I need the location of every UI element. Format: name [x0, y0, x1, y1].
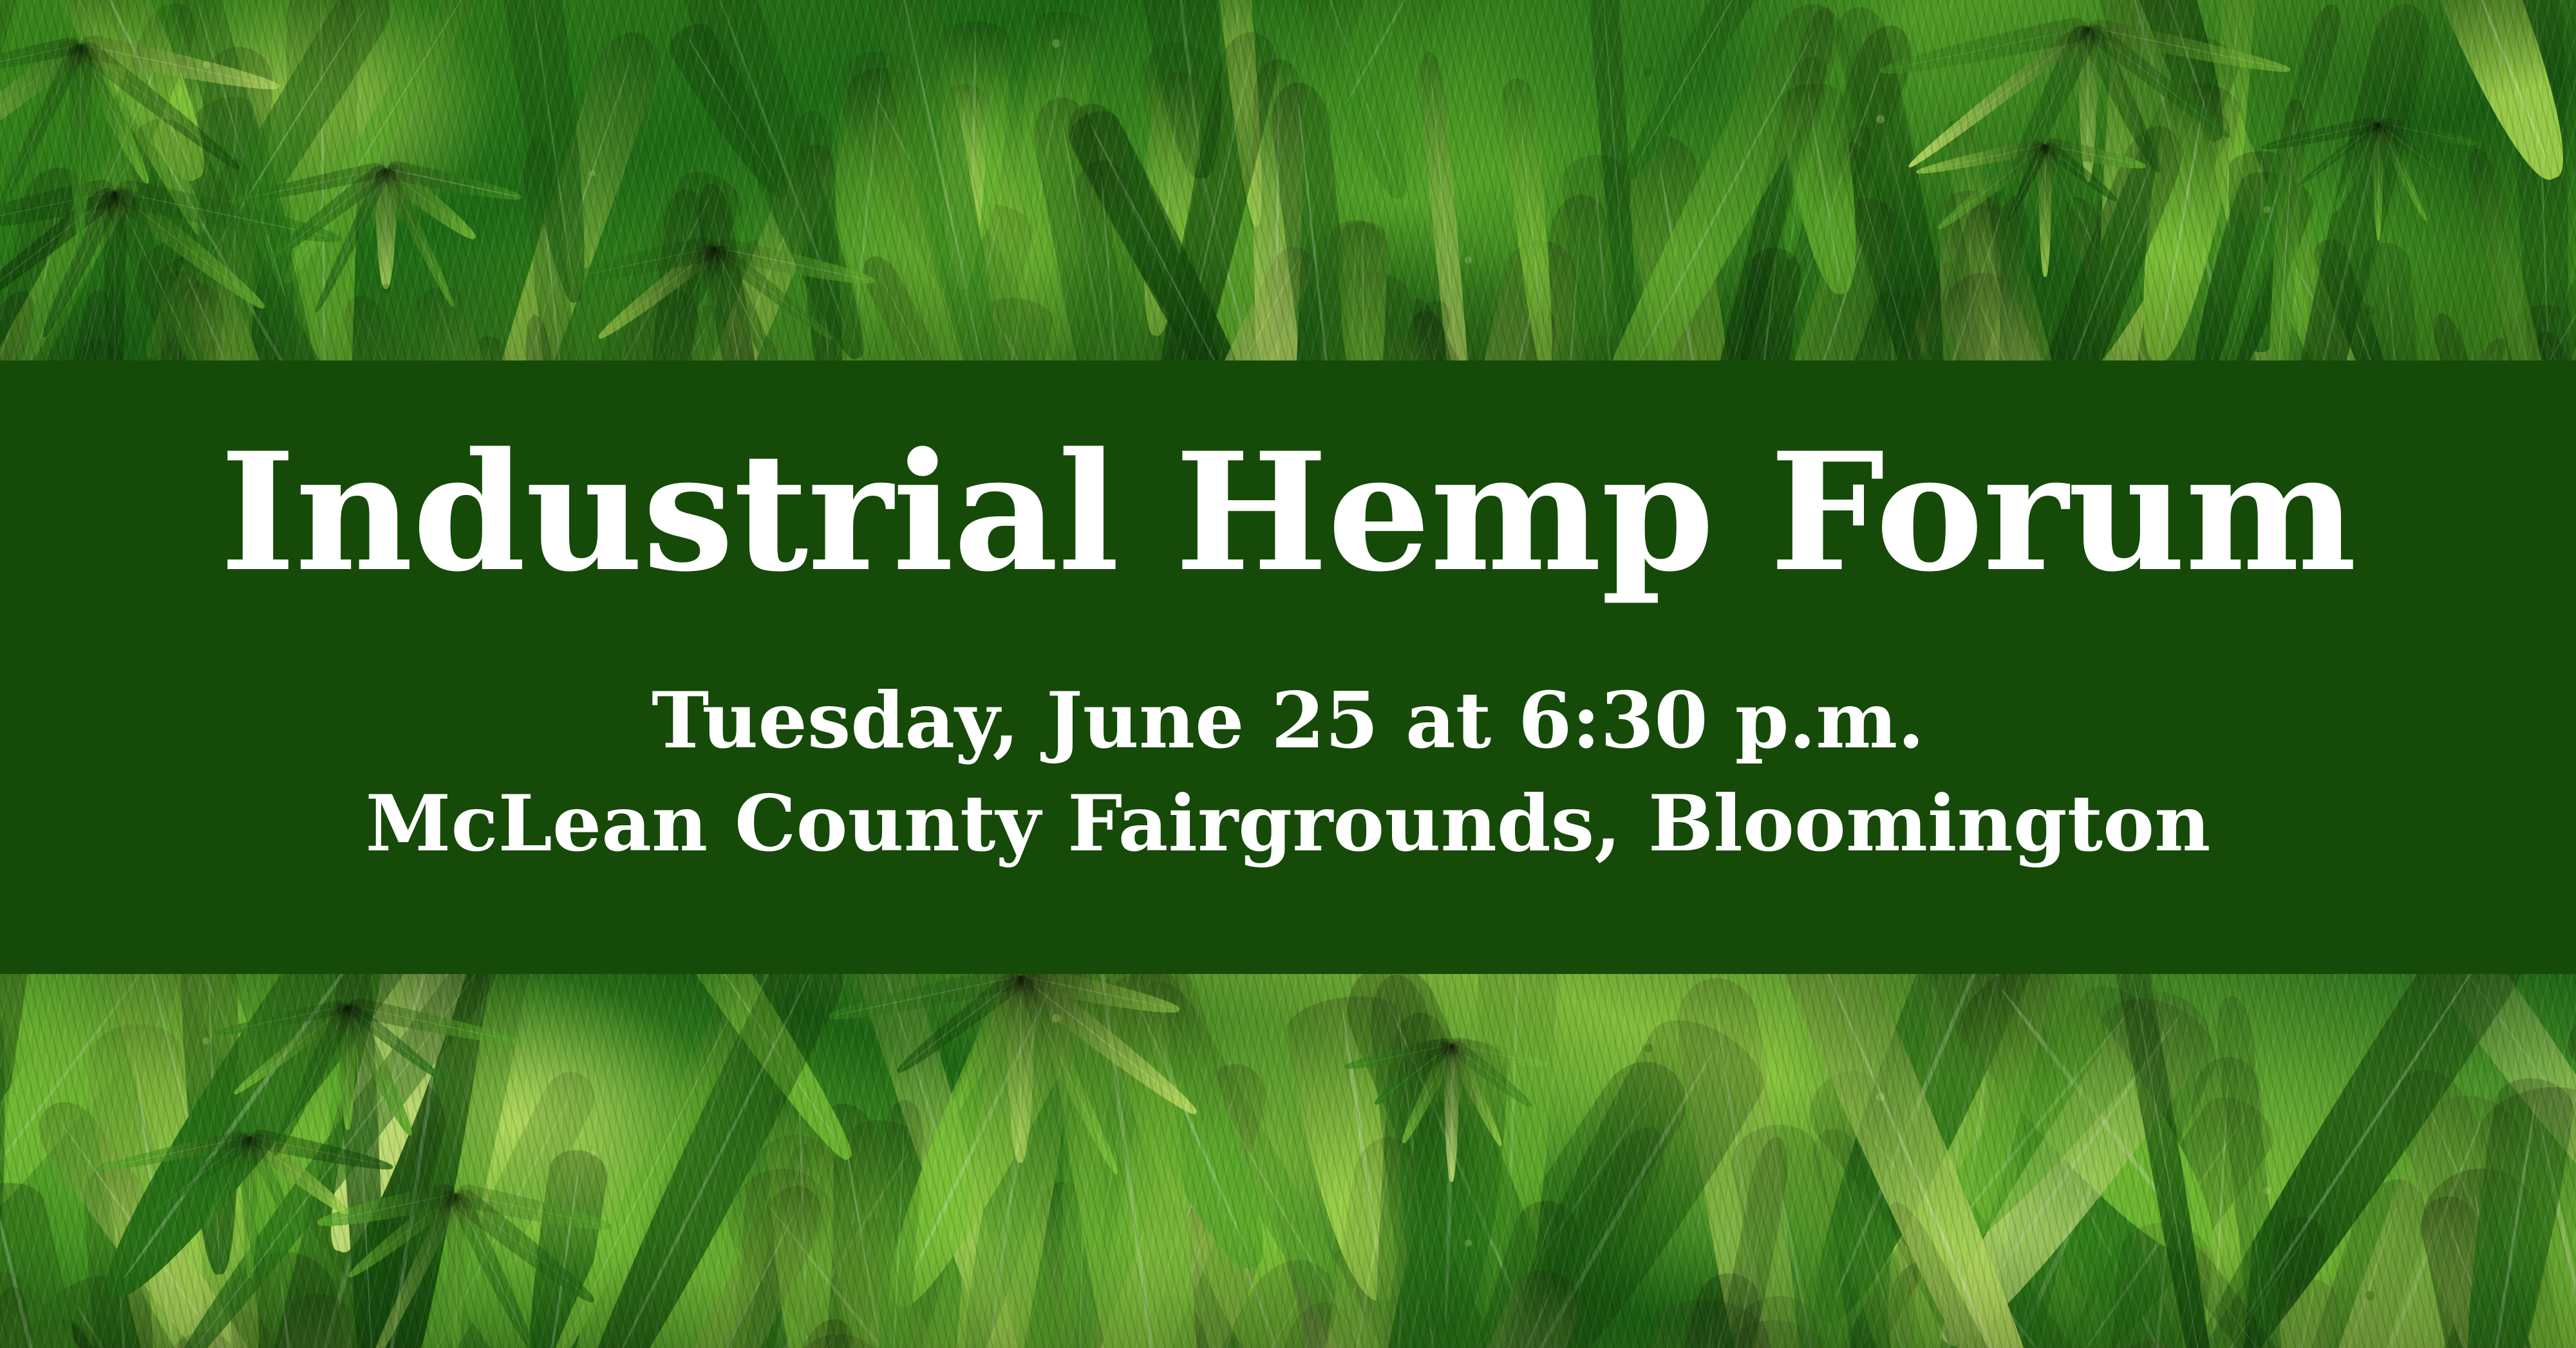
- hemp-forum-poster: Industrial Hemp Forum Tuesday, June 25 a…: [0, 0, 2576, 1348]
- foliage-shading-top: [0, 0, 2576, 361]
- page-title: Industrial Hemp Forum: [220, 431, 2356, 594]
- event-banner: Industrial Hemp Forum Tuesday, June 25 a…: [0, 360, 2576, 974]
- event-location: McLean County Fairgrounds, Bloomington: [366, 772, 2211, 875]
- event-datetime: Tuesday, June 25 at 6:30 p.m.: [366, 669, 2211, 772]
- foliage-shading-bottom: [0, 973, 2576, 1348]
- event-details: Tuesday, June 25 at 6:30 p.m. McLean Cou…: [366, 669, 2211, 875]
- hemp-foliage-top: [0, 0, 2576, 361]
- hemp-foliage-bottom: [0, 973, 2576, 1348]
